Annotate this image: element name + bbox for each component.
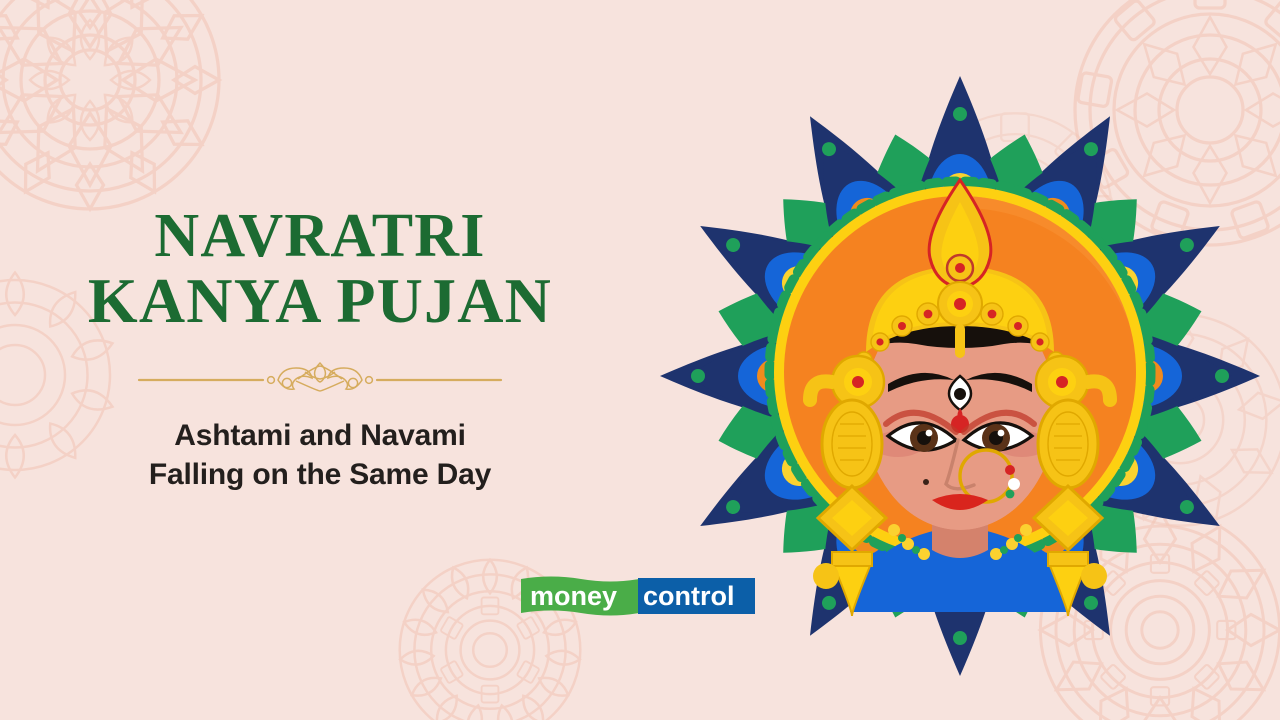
page-title: NAVRATRI KANYA PUJAN (0, 205, 640, 334)
mandala-watermark-bottom-left (385, 545, 595, 720)
subtitle-line-2: Falling on the Same Day (0, 455, 640, 494)
text-block: NAVRATRI KANYA PUJAN (0, 205, 640, 494)
moneycontrol-logo[interactable]: money control (521, 575, 755, 617)
subtitle-line-1: Ashtami and Navami (0, 416, 640, 455)
page-subtitle: Ashtami and Navami Falling on the Same D… (0, 416, 640, 494)
ornamental-divider (135, 360, 505, 394)
logo-word-money: money (530, 581, 617, 611)
mandala-watermark-top-left (0, 0, 240, 230)
headline-line-2: KANYA PUJAN (0, 268, 640, 333)
logo-word-control: control (643, 581, 735, 611)
poster-canvas: NAVRATRI KANYA PUJAN (0, 0, 1280, 720)
headline-line-1: NAVRATRI (0, 205, 640, 268)
